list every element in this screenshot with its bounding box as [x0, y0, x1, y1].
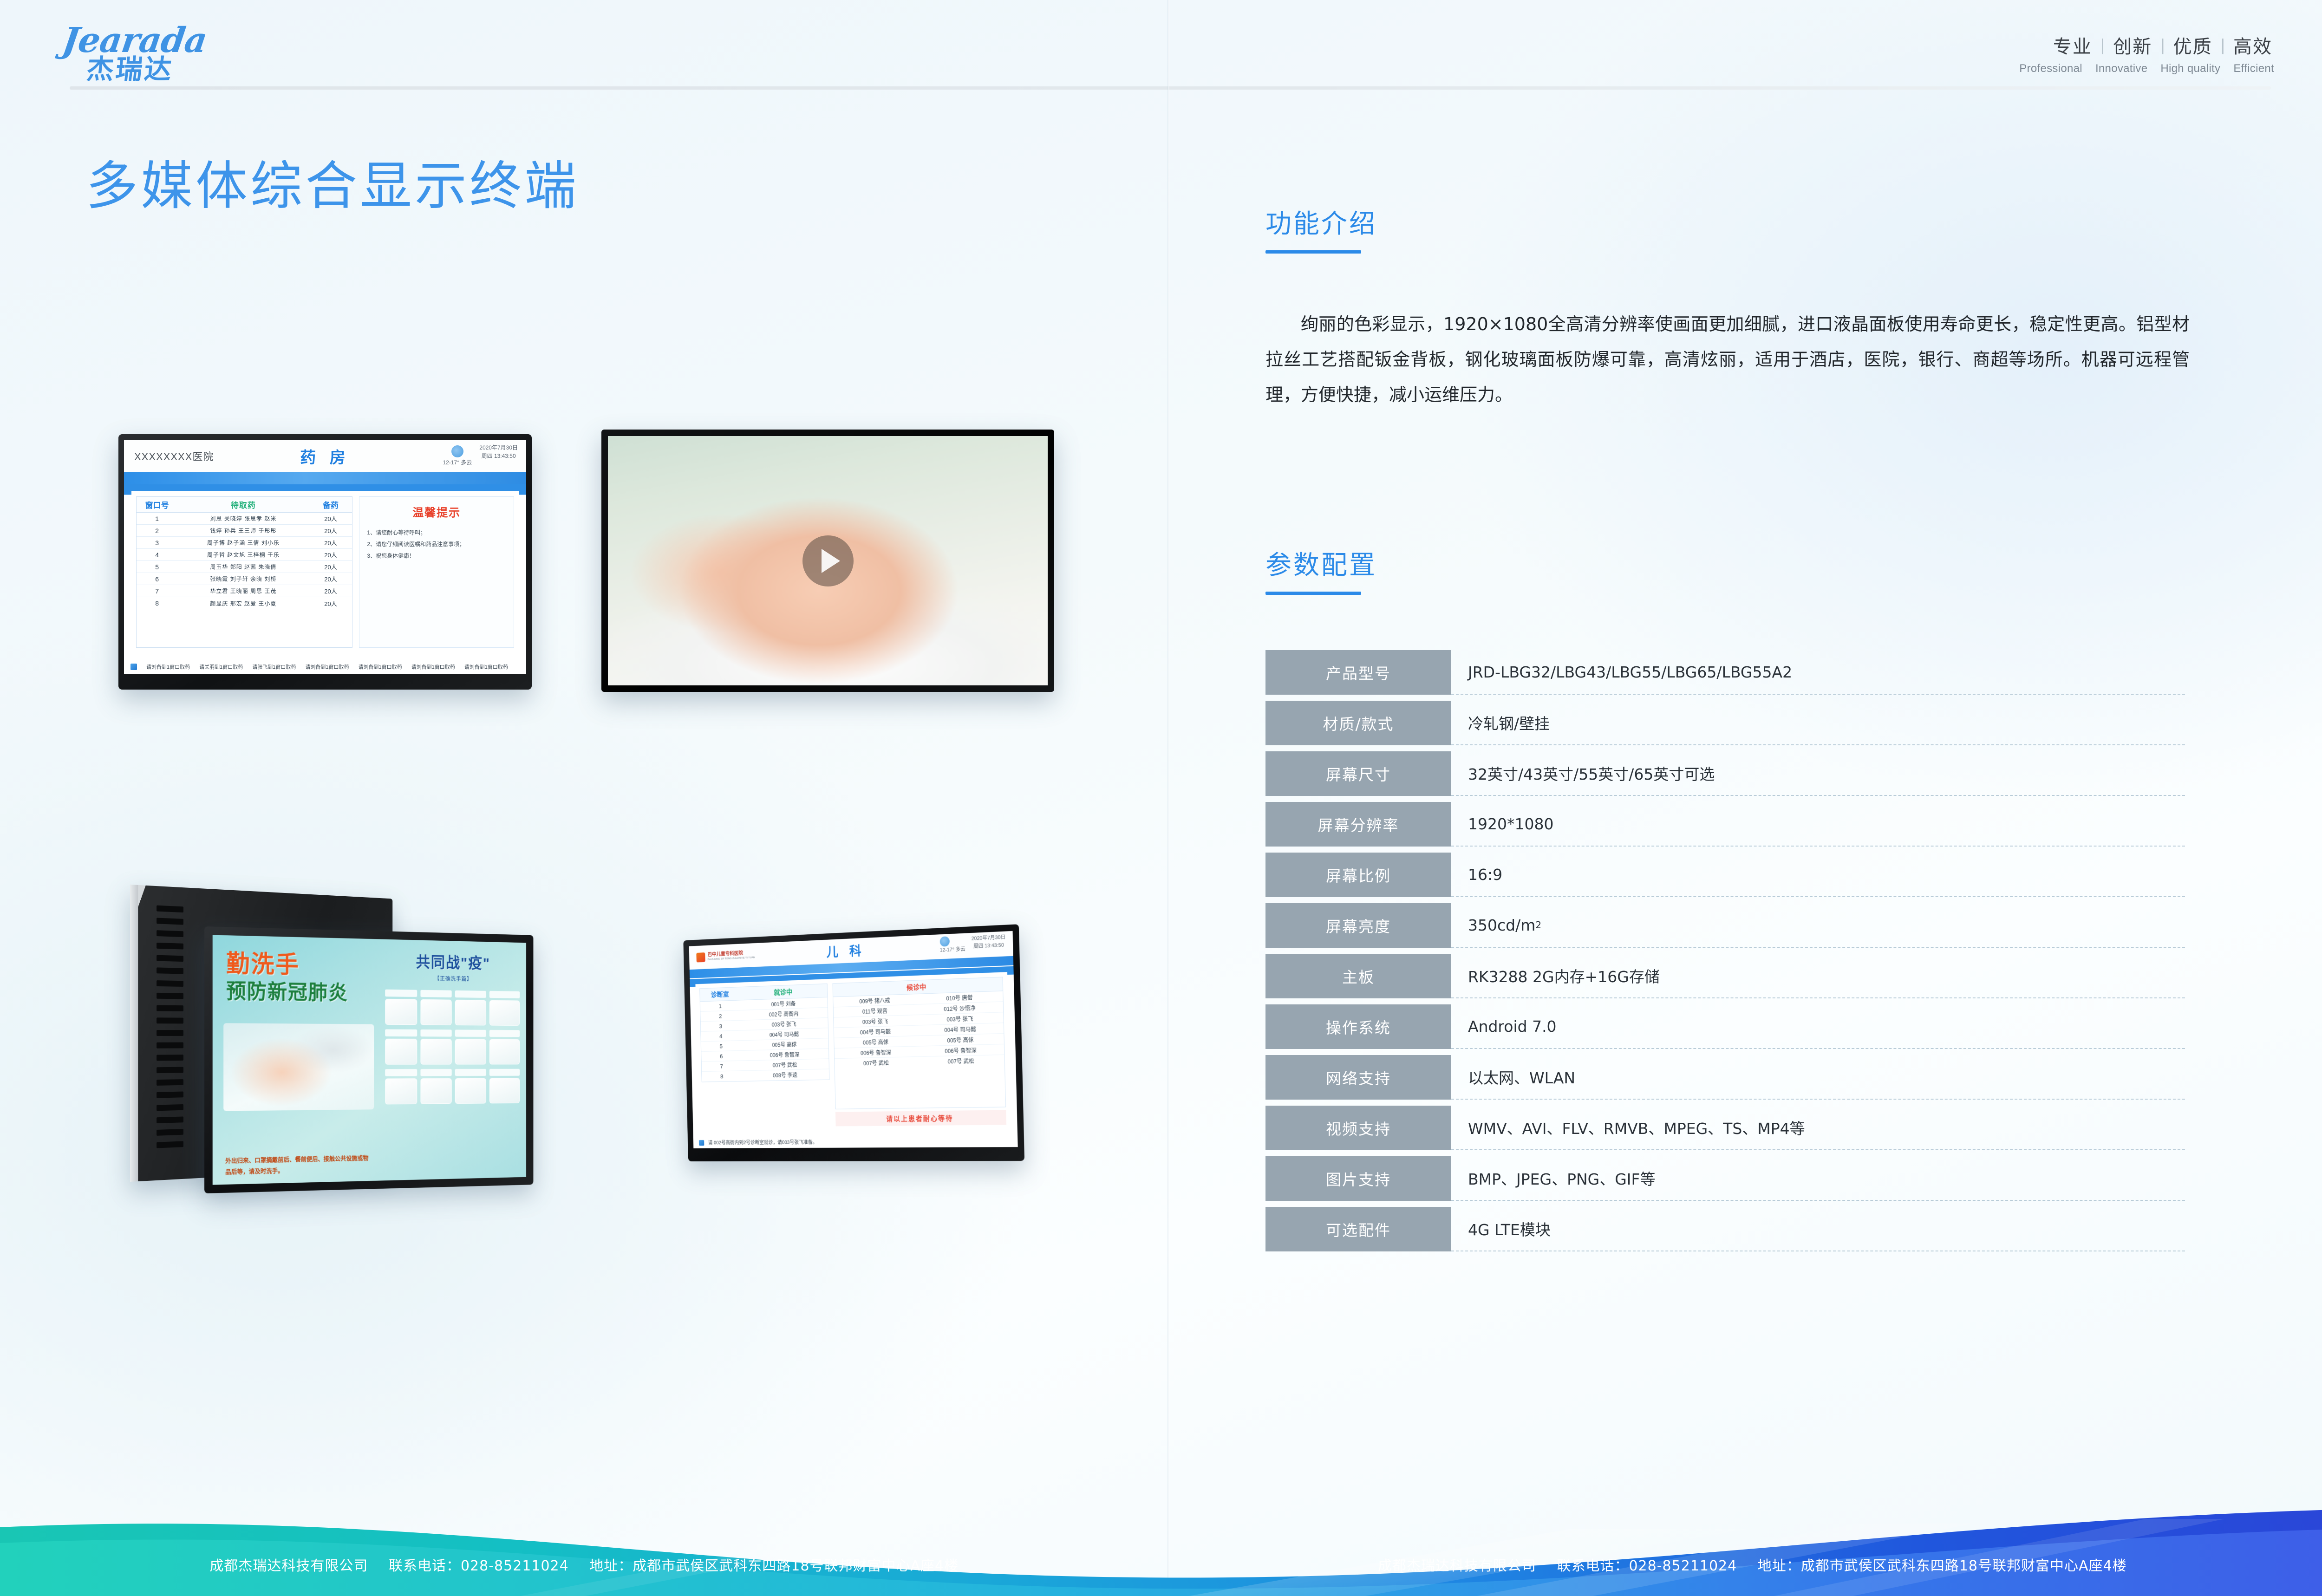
table-row: 1 刘思 关晓婷 张思孝 赵米 20人: [137, 513, 352, 525]
handwash-step-grid: [385, 990, 520, 1105]
ticker-item: 请张飞到1窗口取药: [252, 663, 296, 671]
cell-count: 20人: [309, 599, 352, 608]
handwash-poster: 勤洗手 预防新冠肺炎 外出归来、口罩摘戴前后、餐前便后、接触公共设施或物品后等，…: [213, 935, 526, 1185]
footer-address: 地址：成都市武侯区武科东四路18号联邦财富中心A座4楼: [589, 1558, 959, 1574]
play-button-icon: [802, 535, 854, 586]
ticker-item: 请关羽到1窗口取药: [199, 663, 243, 671]
tagline-divider-3: |: [2221, 35, 2225, 55]
cell-waiting: 005号 高俅: [834, 1037, 918, 1047]
cell-window: 4: [137, 551, 177, 559]
spec-value-text: 350cd/m: [1468, 916, 1535, 934]
footer-phone: 联系电话：028-85211024: [1557, 1558, 1737, 1574]
product-photo-handwash-poster-display: 勤洗手 预防新冠肺炎 外出归来、口罩摘戴前后、餐前便后、接触公共设施或物品后等，…: [204, 926, 562, 1193]
speaker-icon: [699, 1140, 704, 1146]
cell-waiting: 004号 司马懿: [917, 1024, 1004, 1035]
pediatrics-screen-body: 诊断室 就诊中 1 001号 刘备 2 002号 高衙内: [690, 966, 1018, 1137]
pharmacy-notice-title: 温馨提示: [367, 503, 506, 520]
ventilation-grille: [157, 905, 183, 1148]
cell-waiting: 006号 鲁智深: [918, 1045, 1004, 1055]
cell-names: 周子哲 赵文旭 王梓桐 于乐: [177, 551, 309, 559]
handwash-subtext: 外出归来、口罩摘戴前后、餐前便后、接触公共设施或物品后等，请及时洗手。: [225, 1153, 372, 1178]
spec-label: 材质/款式: [1265, 701, 1451, 745]
product-photo-video-display: [601, 430, 1054, 692]
spec-label: 操作系统: [1265, 1004, 1451, 1049]
spec-value: 4G LTE模块: [1451, 1207, 2185, 1251]
pediatrics-content-panel: 诊断室 就诊中 1 001号 刘备 2 002号 高衙内: [695, 972, 1011, 1132]
cell-patient: 006号 鲁智深: [741, 1050, 828, 1060]
page-title: 多媒体综合显示终端: [86, 160, 579, 212]
monitor-screen: 巴中儿童专科医院 BA ZHONG ER TONG ZHUAN KE YI YU…: [689, 931, 1018, 1148]
product-photo-pharmacy-display: XXXXXXXX医院 药 房 12-17° 多云 2020年7月30日 周四 1…: [118, 434, 532, 690]
spec-value: 1920*1080: [1451, 802, 2185, 847]
spec-label: 图片支持: [1265, 1156, 1451, 1201]
footer-phone: 联系电话：028-85211024: [389, 1558, 569, 1574]
cell-names: 周子博 赵子涵 王倩 刘小乐: [177, 539, 309, 547]
cell-room: 3: [701, 1022, 741, 1030]
spec-label: 产品型号: [1265, 650, 1451, 695]
spec-value: 以太网、WLAN: [1451, 1055, 2185, 1100]
cell-count: 20人: [309, 586, 352, 595]
pharmacy-notice-box: 温馨提示 1、请您耐心等待呼叫； 2、请您仔细阅读医嘱和药品注意事项； 3、祝您…: [359, 496, 514, 648]
tagline-en-4: Efficient: [2227, 62, 2281, 75]
pharmacy-ticker-bar: 请刘备到1窗口取药 请关羽到1窗口取药 请张飞到1窗口取药 请刘备到1窗口取药 …: [124, 660, 526, 674]
cell-waiting: 004号 司马懿: [834, 1027, 918, 1036]
handwash-step: [420, 990, 452, 1025]
handwash-step: [385, 1029, 417, 1064]
cell-waiting: 003号 张飞: [834, 1016, 917, 1026]
tagline-word-2: 创新: [2105, 32, 2160, 59]
table-row: 屏幕尺寸 32英寸/43英寸/55英寸/65英寸可选: [1265, 751, 2185, 796]
tagline-divider-1: |: [2100, 35, 2105, 55]
feature-heading-underline: [1265, 250, 1361, 254]
page-footer: 成都杰瑞达科技有限公司 联系电话：028-85211024 地址：成都市武侯区武…: [0, 1503, 2322, 1596]
param-section-heading: 参数配置: [1265, 553, 1377, 595]
cell-names: 刘思 关晓婷 张思孝 赵米: [177, 515, 309, 522]
cell-window: 1: [137, 515, 177, 522]
footer-contact-right: 成都杰瑞达科技有限公司 联系电话：028-85211024 地址：成都市武侯区武…: [1168, 1554, 2322, 1575]
table-row: 屏幕亮度 350cd/m2: [1265, 903, 2185, 948]
handwash-step: [420, 1069, 452, 1104]
pharmacy-accent-band: [124, 472, 526, 484]
pharmacy-col-count: 备药: [309, 499, 352, 510]
chassis-side-edge: [130, 885, 138, 1182]
table-row: 6 张晓霞 刘子轩 余晓 刘桥 20人: [137, 573, 352, 585]
pharmacy-notice-item: 1、请您耐心等待呼叫；: [367, 527, 506, 539]
ticker-item: 请刘备到1窗口取药: [146, 663, 190, 671]
spec-value: 16:9: [1451, 853, 2185, 897]
spec-value-superscript: 2: [1535, 919, 1541, 931]
cell-names: 颜显庆 邢宏 赵爱 王小夏: [177, 599, 309, 607]
spec-value: JRD-LBG32/LBG43/LBG55/LBG65/LBG55A2: [1451, 650, 2185, 695]
brand-logo: Jearada 杰瑞达: [63, 23, 258, 79]
footer-line: 成都杰瑞达科技有限公司 联系电话：028-85211024 地址：成都市武侯区武…: [1378, 1554, 2127, 1575]
cell-room: 8: [702, 1073, 742, 1080]
ticker-message: 请 002号高衙内到2号诊断室就诊，请003号张飞准备。: [708, 1139, 817, 1146]
handwash-headline-secondary: 预防新冠肺炎: [226, 981, 370, 1005]
handwash-step: [455, 1069, 486, 1104]
cell-waiting: 007号 武松: [918, 1056, 1004, 1066]
cell-patient: 007号 武松: [742, 1060, 829, 1069]
handwash-step: [455, 990, 486, 1026]
cell-waiting: 011号 观音: [834, 1006, 917, 1016]
tagline-divider-2: |: [2160, 35, 2165, 55]
feature-heading-text: 功能介绍: [1265, 211, 1377, 237]
spec-label: 屏幕亮度: [1265, 903, 1451, 948]
cell-room: 2: [700, 1012, 740, 1020]
cell-waiting: 006号 鲁智深: [835, 1048, 918, 1057]
handwash-step: [385, 1069, 417, 1104]
cell-names: 张晓霞 刘子轩 余晓 刘桥: [177, 575, 309, 583]
ticker-item: 请刘备到1窗口取药: [411, 663, 455, 671]
table-row: 可选配件 4G LTE模块: [1265, 1207, 2185, 1251]
cell-waiting: 010号 唐僧: [917, 992, 1003, 1003]
handwash-poster-left: 勤洗手 预防新冠肺炎 外出归来、口罩摘戴前后、餐前便后、接触公共设施或物品后等，…: [213, 935, 378, 1185]
tagline-word-1: 专业: [2045, 32, 2100, 59]
cell-waiting: 012号 沙悟净: [917, 1003, 1003, 1014]
handwash-step: [489, 1069, 520, 1104]
cell-count: 20人: [309, 526, 352, 535]
pediatrics-waiting-panel: 候诊中 009号 猪八戒 010号 唐僧 011号 观音 012号 沙悟净: [833, 977, 1007, 1127]
tagline-word-4: 高效: [2225, 32, 2281, 59]
cell-patient: 001号 刘备: [740, 998, 828, 1009]
table-row: 网络支持 以太网、WLAN: [1265, 1055, 2185, 1100]
pediatrics-waiting-table: 009号 猪八戒 010号 唐僧 011号 观音 012号 沙悟净 003号 张…: [833, 990, 1006, 1109]
pediatrics-weather-temp: 12-17° 多云: [940, 945, 965, 954]
pediatrics-consulting-table: 诊断室 就诊中 1 001号 刘备 2 002号 高衙内: [699, 984, 831, 1127]
cell-room: 1: [700, 1002, 740, 1010]
header-divider: [70, 86, 2271, 90]
cell-count: 20人: [309, 550, 352, 559]
cell-window: 7: [137, 587, 177, 595]
cell-waiting: 009号 猪八戒: [833, 995, 917, 1006]
cell-room: 7: [702, 1062, 742, 1070]
table-row: 操作系统 Android 7.0: [1265, 1004, 2185, 1049]
cell-window: 8: [137, 599, 177, 607]
cell-patient: 004号 司马懿: [741, 1029, 828, 1039]
footer-address: 地址：成都市武侯区武科东四路18号联邦财富中心A座4楼: [1758, 1558, 2127, 1574]
cell-waiting: 007号 武松: [835, 1058, 918, 1068]
cell-count: 20人: [309, 574, 352, 583]
monitor-bezel: 勤洗手 预防新冠肺炎 外出归来、口罩摘戴前后、餐前便后、接触公共设施或物品后等，…: [204, 926, 533, 1193]
page-fold-line: [1167, 0, 1169, 1596]
cell-patient: 002号 高衙内: [740, 1009, 828, 1019]
brand-tagline: 专业 | 创新 | 优质 | 高效 Professional Innovativ…: [2013, 32, 2281, 75]
tagline-word-3: 优质: [2165, 32, 2221, 59]
weather-cloud-icon: [451, 445, 463, 457]
cell-window: 3: [137, 539, 177, 547]
feature-description: 绚丽的色彩显示，1920×1080全高清分辨率使画面更加细腻，进口液晶面板使用寿…: [1265, 306, 2190, 412]
table-row: 7 华立君 王晓丽 周思 王茂 20人: [137, 585, 352, 597]
footer-line: 成都杰瑞达科技有限公司 联系电话：028-85211024 地址：成都市武侯区武…: [209, 1554, 959, 1575]
spec-label: 主板: [1265, 954, 1451, 998]
table-row: 材质/款式 冷轧钢/壁挂: [1265, 701, 2185, 745]
ticker-item: 请刘备到1窗口取药: [305, 663, 349, 671]
handwash-step: [385, 990, 417, 1025]
table-row: 主板 RK3288 2G内存+16G存储: [1265, 954, 2185, 998]
footer-company: 成都杰瑞达科技有限公司: [1378, 1558, 1536, 1574]
pharmacy-notice-item: 2、请您仔细阅读医嘱和药品注意事项；: [367, 539, 506, 550]
speaker-icon: [130, 664, 137, 670]
brand-logo-en: Jearada: [60, 23, 260, 58]
tagline-chinese: 专业 | 创新 | 优质 | 高效: [2013, 32, 2281, 59]
cell-count: 20人: [309, 562, 352, 571]
ticker-item: 请刘备到1窗口取药: [464, 663, 508, 671]
spec-label: 可选配件: [1265, 1207, 1451, 1251]
table-row: 2 钱婷 孙兵 王三师 于彤彤 20人: [137, 525, 352, 537]
pediatrics-waiting-note: 请以上患者耐心等待: [835, 1110, 1006, 1126]
page-header: Jearada 杰瑞达 专业 | 创新 | 优质 | 高效 Profession…: [0, 0, 2322, 88]
spec-value: RK3288 2G内存+16G存储: [1451, 954, 2185, 998]
monitor-bezel: XXXXXXXX医院 药 房 12-17° 多云 2020年7月30日 周四 1…: [118, 434, 532, 690]
cell-room: 6: [701, 1052, 741, 1060]
table-row: 屏幕比例 16:9: [1265, 853, 2185, 897]
monitor-bezel: 巴中儿童专科医院 BA ZHONG ER TONG ZHUAN KE YI YU…: [683, 924, 1024, 1161]
table-row: 3 周子博 赵子涵 王倩 刘小乐 20人: [137, 537, 352, 549]
cell-window: 2: [137, 527, 177, 534]
pharmacy-weather-temp: 12-17° 多云: [443, 458, 472, 467]
spec-value: 冷轧钢/壁挂: [1451, 701, 2185, 745]
table-row: 产品型号 JRD-LBG32/LBG43/LBG55/LBG65/LBG55A2: [1265, 650, 2185, 695]
pharmacy-col-window: 窗口号: [137, 499, 177, 510]
cell-waiting: 005号 高俅: [918, 1035, 1004, 1045]
weather-cloud-icon: [939, 936, 949, 947]
spec-label: 屏幕分辨率: [1265, 802, 1451, 847]
spec-label: 屏幕比例: [1265, 853, 1451, 897]
handwash-headline-primary: 勤洗手: [226, 952, 370, 978]
spec-label: 视频支持: [1265, 1106, 1451, 1150]
cell-names: 钱婷 孙兵 王三师 于彤彤: [177, 527, 309, 534]
pharmacy-screen-body: 窗口号 待取药 备药 1 刘思 关晓婷 张思孝 赵米 20人 2 钱婷 孙兵 王…: [124, 484, 526, 660]
pediatrics-weather-widget: 12-17° 多云 2020年7月30日 周四 13:43:50: [939, 934, 1006, 955]
cell-count: 20人: [309, 538, 352, 547]
spec-table: 产品型号 JRD-LBG32/LBG43/LBG55/LBG65/LBG55A2…: [1265, 650, 2185, 1257]
handwash-step: [455, 1029, 486, 1064]
brand-logo-cn: 杰瑞达: [85, 56, 259, 83]
cell-room: 4: [701, 1032, 741, 1040]
pharmacy-weather-widget: 12-17° 多云 2020年7月30日 周四 13:43:50: [402, 443, 518, 467]
spec-value: 32英寸/43英寸/55英寸/65英寸可选: [1451, 751, 2185, 796]
pharmacy-screen-header: XXXXXXXX医院 药 房 12-17° 多云 2020年7月30日 周四 1…: [124, 440, 526, 472]
table-row: 视频支持 WMV、AVI、FLV、RMVB、MPEG、TS、MP4等: [1265, 1106, 2185, 1150]
cell-window: 6: [137, 575, 177, 583]
pharmacy-queue-table: 窗口号 待取药 备药 1 刘思 关晓婷 张思孝 赵米 20人 2 钱婷 孙兵 王…: [136, 496, 352, 648]
spec-value: Android 7.0: [1451, 1004, 2185, 1049]
tagline-en-3: High quality: [2154, 62, 2227, 75]
product-photo-pediatrics-display: 巴中儿童专科医院 BA ZHONG ER TONG ZHUAN KE YI YU…: [655, 924, 1022, 1161]
cell-patient: 003号 张飞: [741, 1019, 828, 1029]
spec-value: WMV、AVI、FLV、RMVB、MPEG、TS、MP4等: [1451, 1106, 2185, 1150]
footer-contact-left: 成都杰瑞达科技有限公司 联系电话：028-85211024 地址：成都市武侯区武…: [0, 1554, 1168, 1575]
spec-label: 网络支持: [1265, 1055, 1451, 1100]
monitor-bezel: [601, 430, 1054, 692]
pediatrics-time: 周四 13:43:50: [972, 942, 1006, 951]
handwash-step: [489, 991, 520, 1026]
pharmacy-col-names: 待取药: [177, 499, 309, 510]
pediatrics-col-patient: 就诊中: [740, 986, 827, 998]
spec-label: 屏幕尺寸: [1265, 751, 1451, 796]
pharmacy-content-panel: 窗口号 待取药 备药 1 刘思 关晓婷 张思孝 赵米 20人 2 钱婷 孙兵 王…: [131, 491, 519, 653]
footer-company: 成都杰瑞达科技有限公司: [209, 1558, 368, 1574]
tagline-en-1: Professional: [2013, 62, 2089, 75]
handwash-step: [489, 1030, 520, 1065]
pharmacy-notice-item: 3、祝您身体健康！: [367, 550, 506, 562]
spec-value: BMP、JPEG、PNG、GIF等: [1451, 1156, 2185, 1201]
table-row: 图片支持 BMP、JPEG、PNG、GIF等: [1265, 1156, 2185, 1201]
monitor-screen: [608, 436, 1048, 685]
ticker-item: 请刘备到1窗口取药: [359, 663, 402, 671]
table-row: 4 周子哲 赵文旭 王梓桐 于乐 20人: [137, 549, 352, 561]
handwash-right-title: 共同战"疫": [385, 949, 520, 974]
cell-count: 20人: [309, 514, 352, 523]
feature-section-heading: 功能介绍: [1265, 211, 1377, 254]
monitor-screen: XXXXXXXX医院 药 房 12-17° 多云 2020年7月30日 周四 1…: [124, 440, 526, 674]
table-row: 屏幕分辨率 1920*1080: [1265, 802, 2185, 847]
table-row: 8 颜显庆 邢宏 赵爱 王小夏 20人: [137, 597, 352, 609]
footer-contact-bar: 成都杰瑞达科技有限公司 联系电话：028-85211024 地址：成都市武侯区武…: [0, 1503, 2322, 1596]
cell-patient: 005号 高俅: [741, 1040, 828, 1049]
spec-value-brightness: 350cd/m2: [1451, 903, 2185, 948]
pharmacy-table-header: 窗口号 待取药 备药: [137, 497, 352, 513]
tagline-en-2: Innovative: [2089, 62, 2154, 75]
handwash-right-subtitle: 【正确洗手篇】: [385, 974, 520, 984]
cell-room: 5: [701, 1042, 741, 1049]
pediatrics-col-room: 诊断室: [700, 989, 740, 1000]
table-row: 5 周玉华 郑阳 赵茜 朱晓倩 20人: [137, 561, 352, 573]
cell-patient: 008号 李逵: [742, 1070, 829, 1080]
table-row: 8 008号 李逵: [702, 1069, 829, 1081]
handwash-poster-right: 共同战"疫" 【正确洗手篇】: [378, 939, 526, 1180]
monitor-screen: 勤洗手 预防新冠肺炎 外出归来、口罩摘戴前后、餐前便后、接触公共设施或物品后等，…: [213, 935, 526, 1185]
cell-names: 周玉华 郑阳 赵茜 朱晓倩: [177, 563, 309, 571]
pharmacy-time: 周四 13:43:50: [479, 452, 518, 460]
tagline-english: Professional Innovative High quality Eff…: [2013, 62, 2281, 75]
cell-names: 华立君 王晓丽 周思 王茂: [177, 587, 309, 595]
video-still-baby-photo: [608, 436, 1048, 685]
handwash-photo: [223, 1023, 374, 1111]
cell-waiting: 003号 张飞: [917, 1014, 1004, 1024]
handwash-step: [420, 1029, 452, 1065]
cell-window: 5: [137, 563, 177, 571]
pharmacy-date: 2020年7月30日: [479, 443, 518, 452]
param-heading-text: 参数配置: [1265, 553, 1377, 579]
pediatrics-ticker-bar: 请 002号高衙内到2号诊断室就诊，请003号张飞准备。: [693, 1135, 1018, 1148]
param-heading-underline: [1265, 592, 1361, 595]
